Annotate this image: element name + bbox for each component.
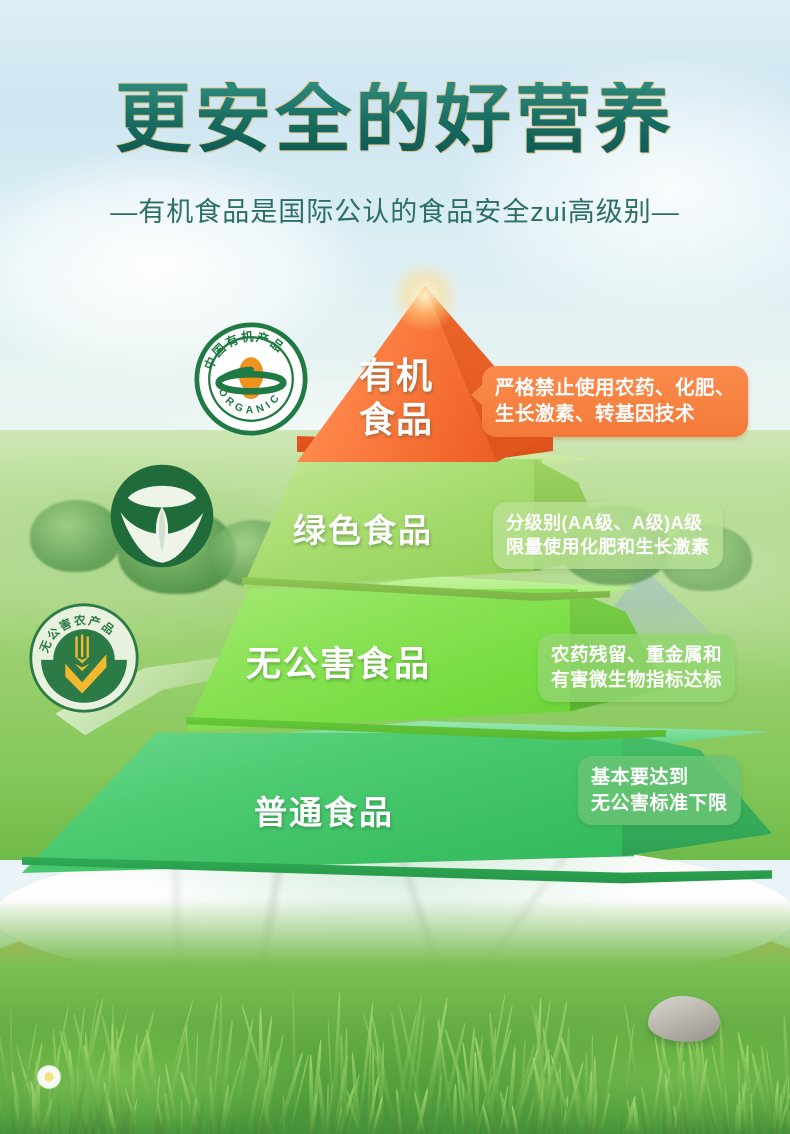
organic-seal-icon: 中国有机产品 ORGANIC — [194, 322, 308, 436]
callout-ordinary-line1: 基本要达到 — [591, 765, 728, 791]
callout-pollution-free-line1: 农药残留、重金属和 — [551, 643, 722, 668]
daisy-flower-icon — [36, 1064, 62, 1090]
tier-label-organic-line2: 食品 — [348, 398, 444, 442]
tier-label-ordinary: 普通食品 — [254, 786, 394, 834]
callout-green-food[interactable]: 分级别(AA级、A级)A级 限量使用化肥和生长激素 — [493, 502, 723, 569]
apex-highlight-glow — [389, 260, 461, 332]
green-food-certification-badge[interactable] — [108, 462, 216, 570]
callout-green-food-line2: 限量使用化肥和生长激素 — [506, 535, 710, 559]
tier-label-organic: 有机 食品 — [348, 354, 444, 442]
callout-organic-line2: 生长激素、转基因技术 — [495, 401, 735, 427]
callout-ordinary[interactable]: 基本要达到 无公害标准下限 — [578, 756, 741, 825]
pollution-free-seal-icon: 无公害农产品 — [28, 602, 140, 714]
tier-label-green-food: 绿色食品 — [293, 504, 433, 552]
tier-label-pollution-free: 无公害食品 — [246, 636, 431, 687]
callout-pollution-free[interactable]: 农药残留、重金属和 有害微生物指标达标 — [538, 634, 735, 702]
green-food-logo-icon — [108, 462, 216, 570]
callout-organic-line1: 严格禁止使用农药、化肥、 — [495, 375, 735, 401]
callout-organic[interactable]: 严格禁止使用农药、化肥、 生长激素、转基因技术 — [482, 366, 748, 437]
page-subtitle: —有机食品是国际公认的食品安全zui高级别— — [0, 190, 790, 229]
organic-certification-badge[interactable]: 中国有机产品 ORGANIC — [194, 322, 308, 436]
callout-ordinary-line2: 无公害标准下限 — [591, 791, 728, 817]
infographic-canvas: 更安全的好营养 —有机食品是国际公认的食品安全zui高级别— — [0, 0, 790, 1134]
tier-label-organic-line1: 有机 — [348, 354, 444, 398]
page-title: 更安全的好营养 — [0, 82, 790, 158]
callout-pollution-free-line2: 有害微生物指标达标 — [551, 668, 722, 693]
callout-green-food-line1: 分级别(AA级、A级)A级 — [506, 511, 710, 535]
pollution-free-certification-badge[interactable]: 无公害农产品 — [28, 602, 140, 714]
